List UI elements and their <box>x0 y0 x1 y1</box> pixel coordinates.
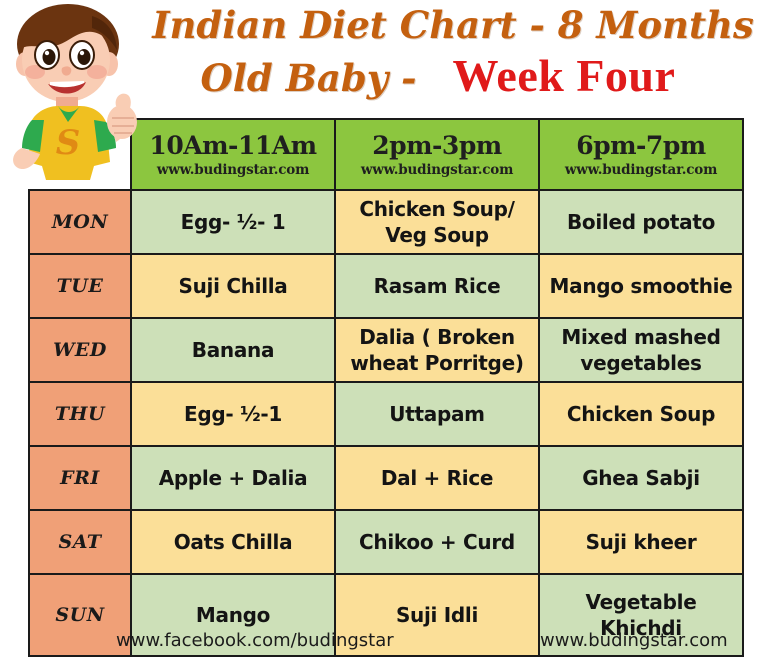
slot-3-site: www.budingstar.com <box>542 161 740 179</box>
page-title-line-2: Old Baby -Week Four <box>104 50 772 113</box>
table-row: TUE Suji Chilla Rasam Rice Mango smoothi… <box>29 254 743 318</box>
column-header-slot-1: 10Am-11Am www.budingstar.com <box>131 119 335 190</box>
title-block: Indian Diet Chart - 8 Months Old Baby -W… <box>120 0 772 116</box>
meal-fri-slot3: Ghea Sabji <box>539 446 743 510</box>
table-row: MON Egg- ½- 1 Chicken Soup/ Veg Soup Boi… <box>29 190 743 254</box>
table-row: SAT Oats Chilla Chikoo + Curd Suji kheer <box>29 510 743 574</box>
meal-mon-slot3: Boiled potato <box>539 190 743 254</box>
meal-fri-slot2: Dal + Rice <box>335 446 539 510</box>
slot-3-time: 6pm-7pm <box>542 131 740 161</box>
day-label-mon: MON <box>29 190 131 254</box>
table-row: FRI Apple + Dalia Dal + Rice Ghea Sabji <box>29 446 743 510</box>
page-title-week: Week Four <box>452 50 675 101</box>
meal-tue-slot2: Rasam Rice <box>335 254 539 318</box>
table-row: THU Egg- ½-1 Uttapam Chicken Soup <box>29 382 743 446</box>
day-label-thu: THU <box>29 382 131 446</box>
meal-tue-slot3: Mango smoothie <box>539 254 743 318</box>
day-label-fri: FRI <box>29 446 131 510</box>
meal-thu-slot1: Egg- ½-1 <box>131 382 335 446</box>
meal-thu-slot2: Uttapam <box>335 382 539 446</box>
mascot-fist <box>107 105 137 139</box>
slot-2-site: www.budingstar.com <box>338 161 536 179</box>
slot-2-time: 2pm-3pm <box>338 131 536 161</box>
meal-thu-slot3: Chicken Soup <box>539 382 743 446</box>
table-row: WED Banana Dalia ( Broken wheat Porritge… <box>29 318 743 382</box>
meal-sat-slot1: Oats Chilla <box>131 510 335 574</box>
column-header-slot-3: 6pm-7pm www.budingstar.com <box>539 119 743 190</box>
meal-fri-slot1: Apple + Dalia <box>131 446 335 510</box>
diet-chart-table: 10Am-11Am www.budingstar.com 2pm-3pm www… <box>28 118 744 657</box>
column-header-slot-2: 2pm-3pm www.budingstar.com <box>335 119 539 190</box>
slot-1-time: 10Am-11Am <box>134 131 332 161</box>
page-title-subject: Old Baby - <box>201 56 417 100</box>
day-label-tue: TUE <box>29 254 131 318</box>
slot-1-site: www.budingstar.com <box>134 161 332 179</box>
day-label-wed: WED <box>29 318 131 382</box>
meal-mon-slot2: Chicken Soup/ Veg Soup <box>335 190 539 254</box>
footer-facebook-link[interactable]: www.facebook.com/budingstar <box>116 630 394 651</box>
meal-tue-slot1: Suji Chilla <box>131 254 335 318</box>
meal-mon-slot1: Egg- ½- 1 <box>131 190 335 254</box>
meal-wed-slot2: Dalia ( Broken wheat Porritge) <box>335 318 539 382</box>
day-label-sat: SAT <box>29 510 131 574</box>
mascot-shirt-logo: S <box>56 123 81 163</box>
meal-wed-slot3: Mixed mashed vegetables <box>539 318 743 382</box>
meal-sat-slot2: Chikoo + Curd <box>335 510 539 574</box>
mascot-cheek-right <box>87 65 107 79</box>
mascot-boy-illustration: S <box>2 2 142 182</box>
table-body: MON Egg- ½- 1 Chicken Soup/ Veg Soup Boi… <box>29 190 743 656</box>
footer-website-link[interactable]: www.budingstar.com <box>540 630 728 651</box>
page-footer: www.facebook.com/budingstar www.budingst… <box>0 628 772 661</box>
meal-sat-slot3: Suji kheer <box>539 510 743 574</box>
meal-wed-slot1: Banana <box>131 318 335 382</box>
page-title-line-1: Indian Diet Chart - 8 Months <box>134 0 772 50</box>
